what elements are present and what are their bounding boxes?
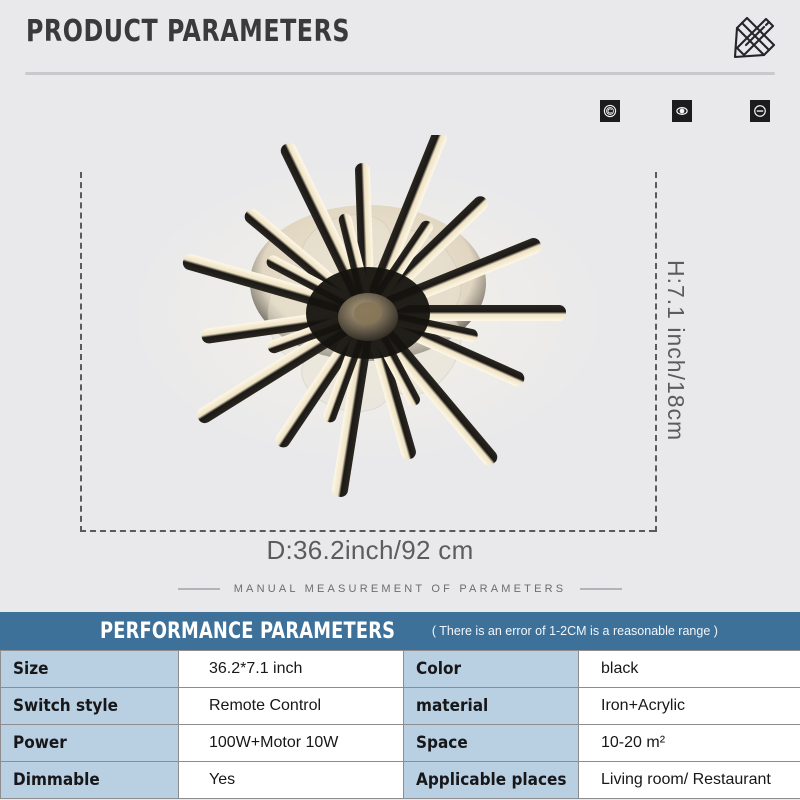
spec-value: 36.2*7.1 inch — [179, 651, 404, 688]
header-divider — [25, 72, 775, 75]
spec-key: material — [404, 688, 579, 725]
spec-value: Iron+Acrylic — [579, 688, 800, 725]
spec-key: Applicable places — [404, 762, 579, 799]
performance-parameters-banner: PERFORMANCE PARAMETERS ( There is an err… — [0, 612, 800, 650]
table-row: Dimmable Yes Applicable places Living ro… — [1, 762, 800, 799]
spec-value: black — [579, 651, 800, 688]
spec-value: Yes — [179, 762, 404, 799]
certification-badges — [600, 100, 778, 124]
performance-title: PERFORMANCE PARAMETERS — [100, 619, 395, 644]
product-image — [110, 135, 630, 525]
ring-badge-icon — [672, 100, 692, 122]
spec-key: Color — [404, 651, 579, 688]
measure-guide-left — [80, 172, 82, 532]
spec-value: 100W+Motor 10W — [179, 725, 404, 762]
caption-text: MANUAL MEASUREMENT OF PARAMETERS — [234, 583, 567, 595]
table-row: Size 36.2*7.1 inch Color black — [1, 651, 800, 688]
width-dimension-label: D:36.2inch/92 cm — [0, 535, 740, 566]
spec-key: Size — [1, 651, 179, 688]
minus-circle-badge-icon — [750, 100, 770, 122]
copyright-badge-icon — [600, 100, 620, 122]
spec-value: 10-20 m² — [579, 725, 800, 762]
spec-value: Living room/ Restaurant — [579, 762, 800, 799]
page-header: PRODUCT PARAMETERS — [0, 0, 800, 80]
product-measurement-area: D:36.2inch/92 cm H:7.1 inch/18cm — [0, 130, 800, 575]
caption-rule-right — [580, 588, 622, 590]
performance-note: ( There is an error of 1-2CM is a reason… — [432, 624, 718, 638]
spec-key: Switch style — [1, 688, 179, 725]
manual-measurement-caption: MANUAL MEASUREMENT OF PARAMETERS — [0, 583, 800, 595]
page-title: PRODUCT PARAMETERS — [26, 14, 350, 49]
spec-key: Dimmable — [1, 762, 179, 799]
spec-key: Space — [404, 725, 579, 762]
ruler-pencil-icon — [730, 14, 778, 62]
table-row: Power 100W+Motor 10W Space 10-20 m² — [1, 725, 800, 762]
specification-table: Size 36.2*7.1 inch Color black Switch st… — [0, 650, 800, 799]
measure-guide-right — [655, 172, 657, 532]
measure-guide-bottom — [80, 530, 655, 532]
spec-value: Remote Control — [179, 688, 404, 725]
table-row: Switch style Remote Control material Iro… — [1, 688, 800, 725]
height-dimension-label: H:7.1 inch/18cm — [662, 260, 689, 441]
spec-key: Power — [1, 725, 179, 762]
caption-rule-left — [178, 588, 220, 590]
